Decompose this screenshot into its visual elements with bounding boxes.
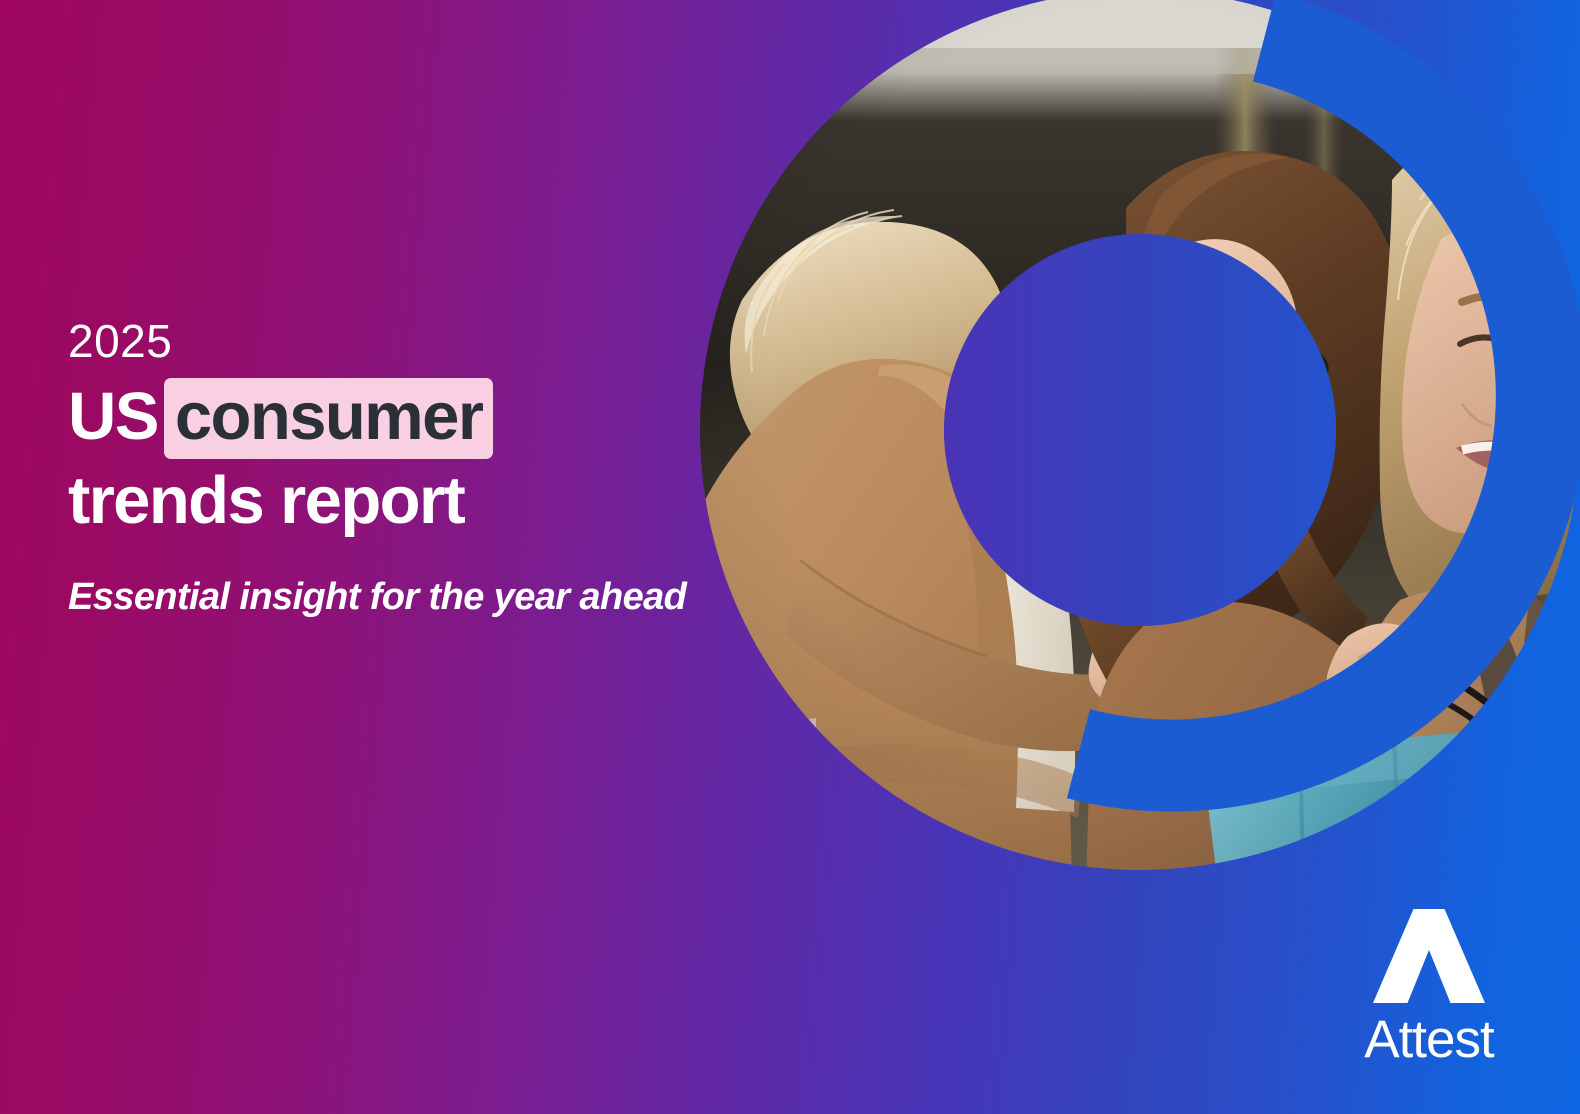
report-year: 2025 xyxy=(68,318,788,364)
title-highlight-consumer: consumer xyxy=(164,378,493,459)
triangle-a-logo-icon xyxy=(1373,909,1485,1003)
cover-text-block: 2025 USconsumer trends report Essential … xyxy=(68,318,788,618)
blue-c-arc xyxy=(983,5,1580,782)
page-title-line-2: trends report xyxy=(68,465,788,537)
ring-inner-disc xyxy=(944,234,1336,626)
page-subtitle: Essential insight for the year ahead xyxy=(68,577,788,619)
attest-logo: Attest xyxy=(1340,909,1518,1066)
page-title-line-1: USconsumer xyxy=(68,378,788,459)
report-cover: 2025 USconsumer trends report Essential … xyxy=(0,0,1580,1114)
attest-wordmark: Attest xyxy=(1364,1013,1494,1066)
title-word-us: US xyxy=(68,381,158,453)
